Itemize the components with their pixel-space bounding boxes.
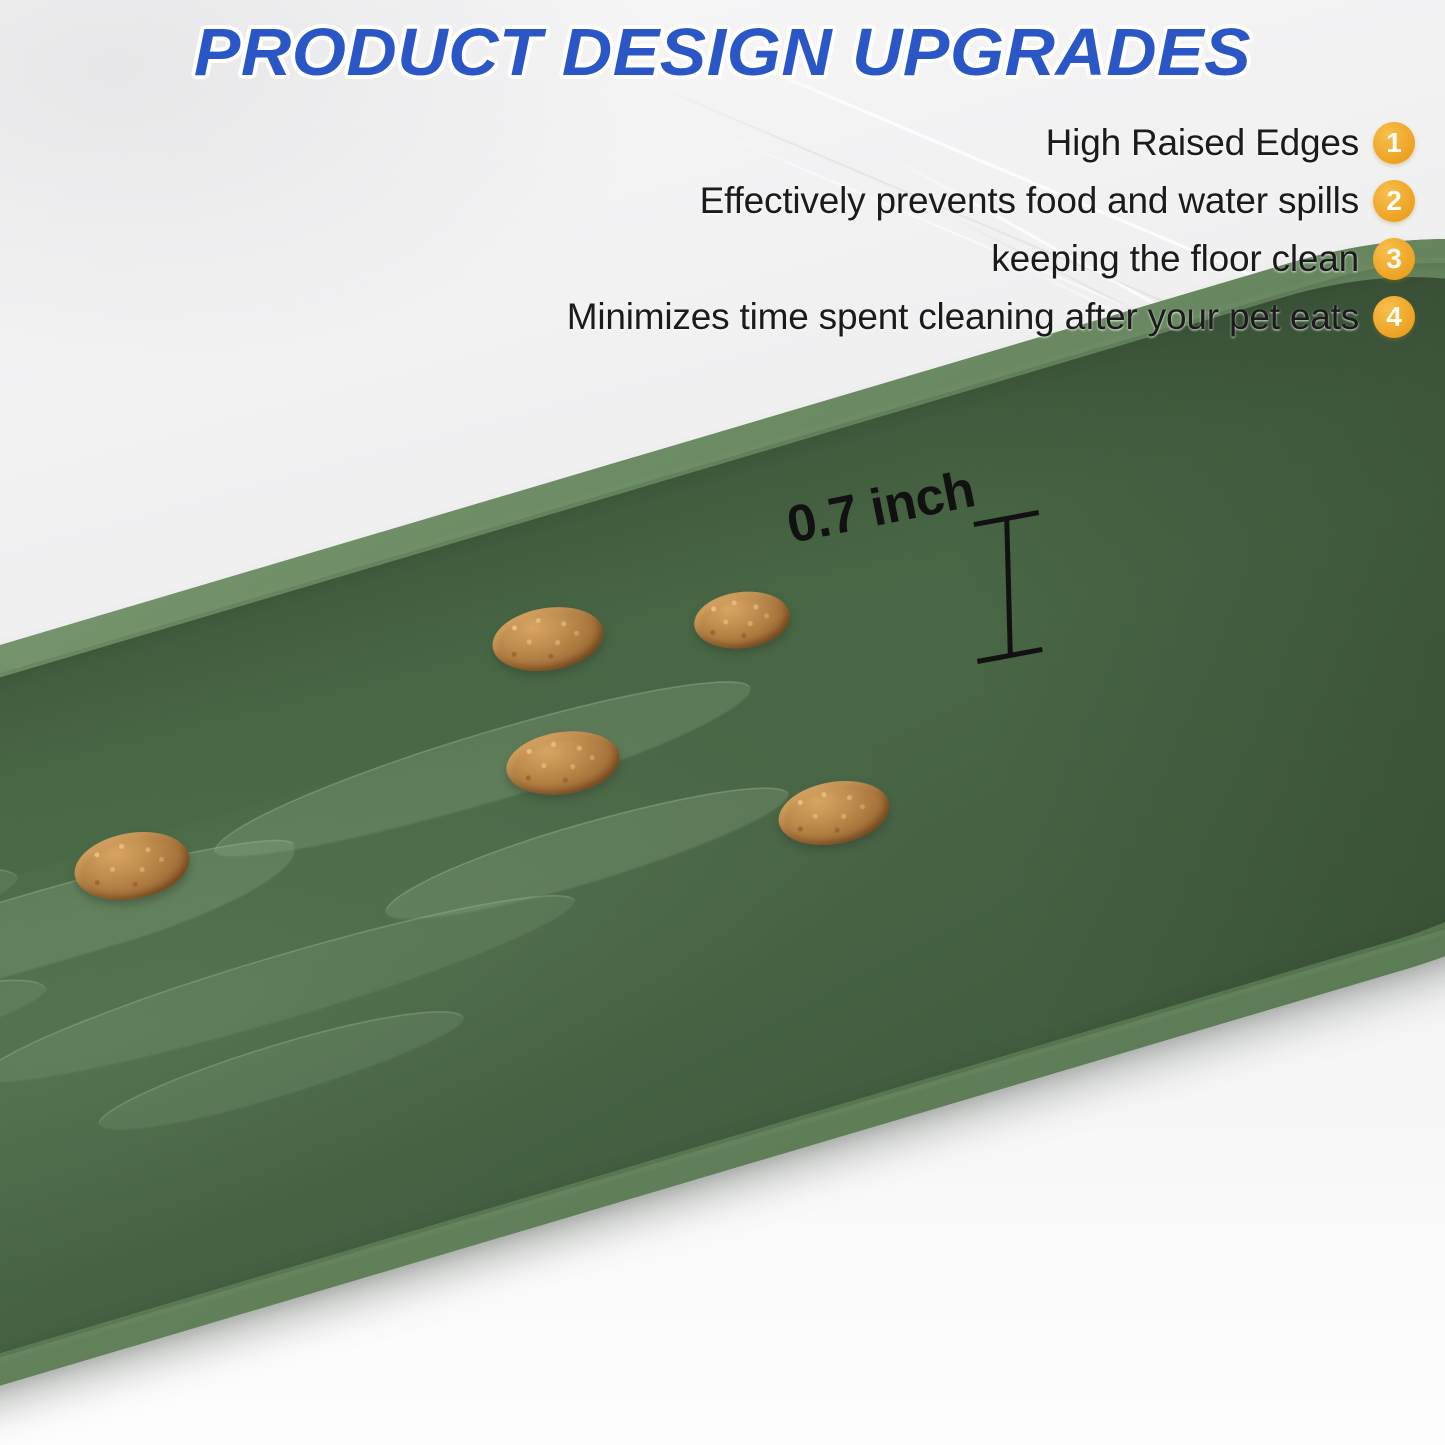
feature-number-badge: 2 (1373, 180, 1415, 222)
feature-label: Effectively prevents food and water spil… (700, 180, 1359, 222)
feature-label: High Raised Edges (1046, 122, 1359, 164)
page-title: PRODUCT DESIGN UPGRADES (0, 14, 1445, 91)
product-infographic: 0.7 inch PRODUCT DESIGN UPGRADES High Ra… (0, 0, 1445, 1445)
feature-number-badge: 1 (1373, 122, 1415, 164)
dimension-shaft (1004, 517, 1013, 657)
feature-label: Minimizes time spent cleaning after your… (567, 296, 1359, 338)
feature-list: High Raised Edges 1 Effectively prevents… (255, 120, 1415, 352)
feature-label: keeping the floor clean (991, 238, 1359, 280)
feature-item: High Raised Edges 1 (255, 120, 1415, 166)
feature-item: Minimizes time spent cleaning after your… (255, 294, 1415, 340)
dimension-beam-icon (973, 504, 1043, 668)
feature-number-badge: 4 (1373, 296, 1415, 338)
feature-item: Effectively prevents food and water spil… (255, 178, 1415, 224)
feature-number-badge: 3 (1373, 238, 1415, 280)
feature-item: keeping the floor clean 3 (255, 236, 1415, 282)
